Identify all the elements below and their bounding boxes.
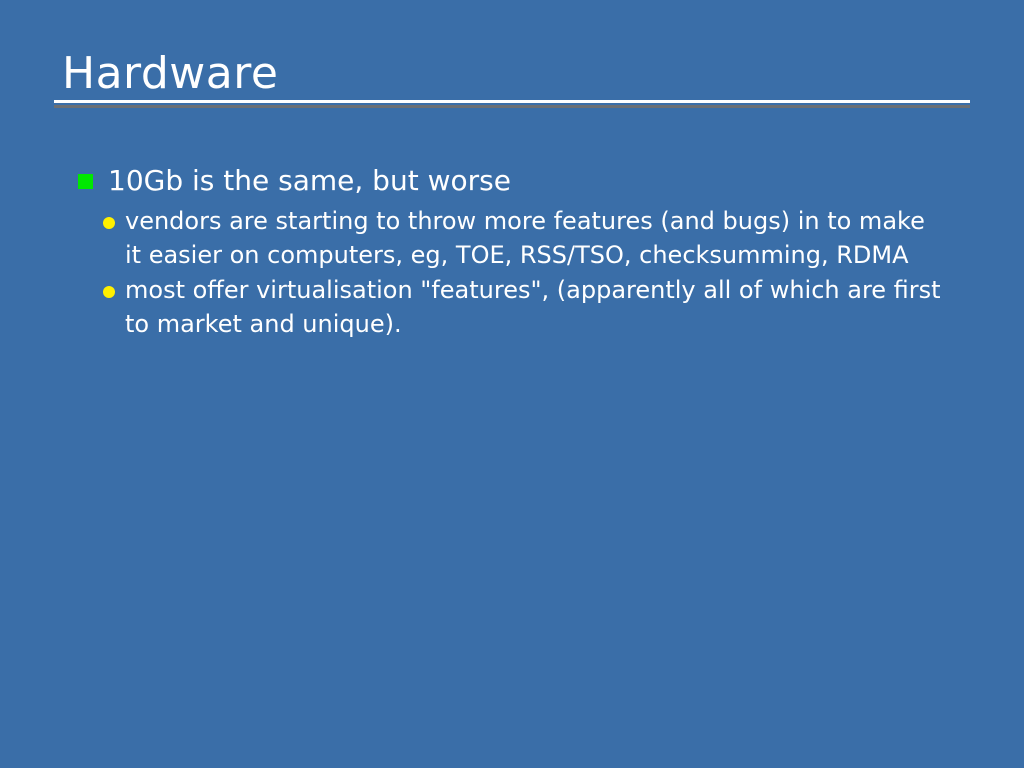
- dot-bullet-icon: [103, 217, 115, 229]
- bullet-level1: 10Gb is the same, but worse: [78, 163, 948, 198]
- bullet-level2-list: vendors are starting to throw more featu…: [78, 204, 948, 341]
- bullet-level2: most offer virtualisation "features", (a…: [78, 273, 948, 341]
- slide-canvas: Hardware 10Gb is the same, but worse ven…: [0, 0, 1024, 768]
- bullet-level1-label: 10Gb is the same, but worse: [108, 164, 511, 197]
- bullet-level2: vendors are starting to throw more featu…: [78, 204, 948, 272]
- title-underline-shadow: [54, 105, 970, 108]
- bullet-level2-label: vendors are starting to throw more featu…: [125, 204, 948, 272]
- square-bullet-icon: [78, 174, 93, 189]
- slide-title-block: Hardware: [54, 48, 970, 100]
- bullet-level2-label: most offer virtualisation "features", (a…: [125, 273, 948, 341]
- page-title: Hardware: [54, 48, 970, 100]
- dot-bullet-icon: [103, 286, 115, 298]
- slide-body: 10Gb is the same, but worse vendors are …: [78, 163, 948, 342]
- title-underline: [54, 100, 970, 103]
